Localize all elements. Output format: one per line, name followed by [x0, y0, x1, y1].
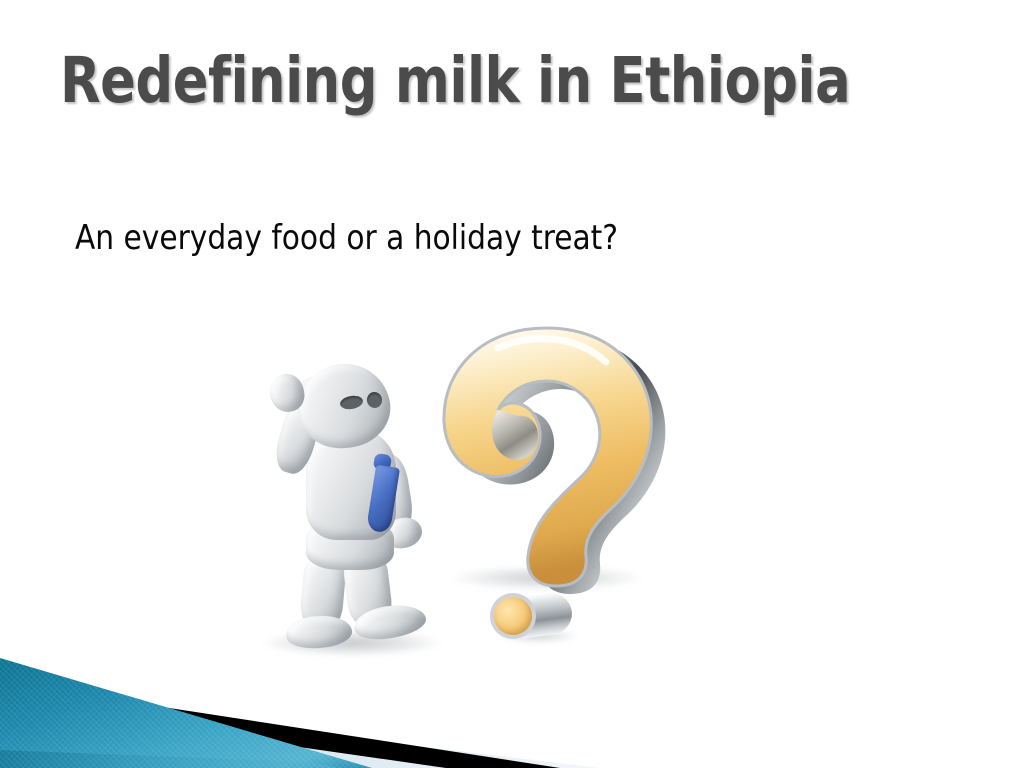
page-title: Redefining milk in Ethiopia: [60, 46, 897, 117]
question-mark-icon: [428, 318, 688, 618]
slide-subtitle: An everyday food or a holiday treat?: [75, 218, 618, 258]
gray-mannequin-figure-icon: [250, 358, 450, 658]
question-mark-svg: [428, 318, 688, 618]
figure-necktie: [370, 454, 396, 530]
black-diagonal-stripe: [0, 682, 560, 768]
teal-triangle: [0, 658, 372, 768]
necktie-blade: [366, 465, 400, 534]
clipart-illustration: [240, 318, 710, 668]
pale-blue-band: [0, 696, 600, 768]
teal-footer-sliver: [0, 750, 338, 768]
slide-canvas: Redefining milk in Ethiopia An everyday …: [0, 0, 1024, 768]
question-mark-dot-icon: [488, 590, 584, 642]
